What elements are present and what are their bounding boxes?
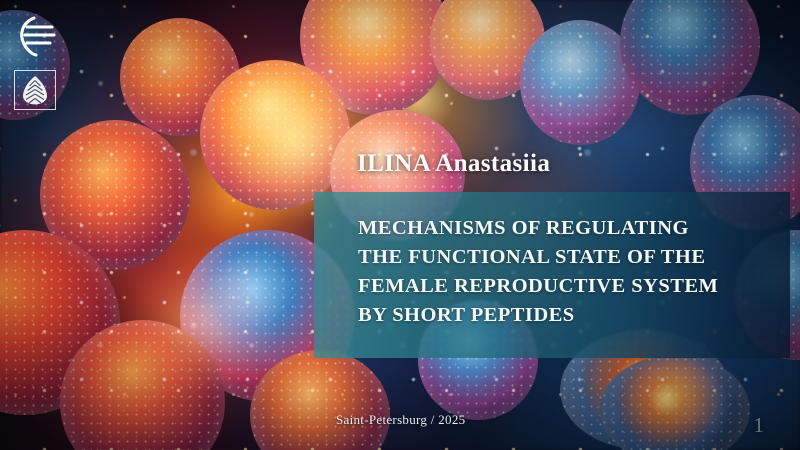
title-line-3: FEMALE REPRODUCTIVE SYSTEM [358,272,778,301]
title-line-4: BY SHORT PEPTIDES [358,301,778,330]
logo-group [14,14,60,110]
author-name: ILINA Anastasiia [357,150,550,178]
leaf-badge-icon [14,70,56,110]
title-line-1: MECHANISMS OF REGULATING [358,214,778,243]
leaf-emblem-icon [20,75,50,105]
presentation-slide: ILINA Anastasiia MECHANISMS OF REGULATIN… [0,0,800,450]
slide-number: 1 [754,413,765,438]
title-line-2: THE FUNCTIONAL STATE OF THE [358,243,778,272]
slide-title: MECHANISMS OF REGULATING THE FUNCTIONAL … [358,214,778,330]
location-date-footer: Saint-Petersburg / 2025 [336,412,465,428]
institute-emblem-icon [14,14,60,58]
